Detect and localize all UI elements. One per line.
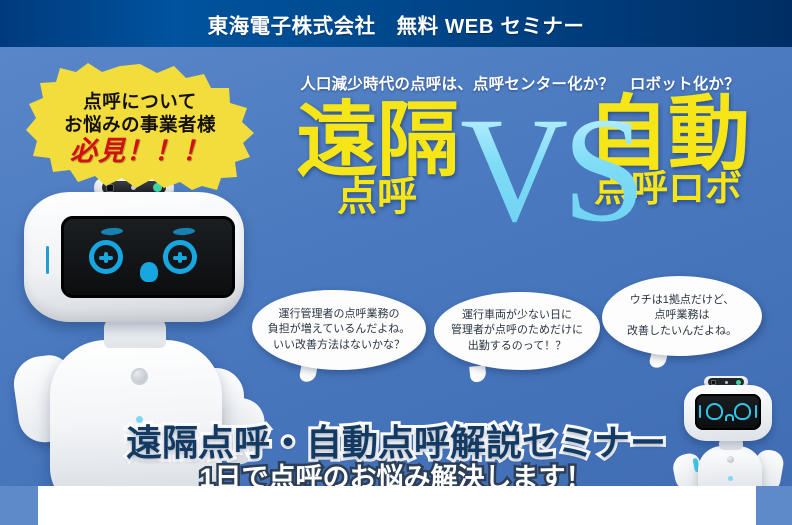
bubble-1-line-3: いい改善方法はないかな？	[273, 338, 405, 354]
badge-line-1: 点呼について	[83, 91, 196, 113]
bottom-white-panel	[38, 486, 756, 525]
banner-title: 遠隔点呼・自動点呼解説セミナー	[0, 424, 792, 462]
badge-text-block: 点呼について お悩みの事業者様 必見！！！	[26, 62, 254, 190]
bubble-3-line-3: 改善したいんだよね。	[627, 324, 737, 340]
robot-small-eye-left	[706, 403, 723, 420]
robot-large-side-light-left	[46, 246, 49, 274]
robot-small-side-light-right	[755, 405, 757, 418]
headline-left-group: 遠隔 点呼	[262, 102, 492, 217]
robot-large-face-screen	[61, 216, 235, 298]
status-led-icon	[736, 380, 741, 385]
robot-small-mouth	[725, 414, 734, 421]
robot-large-mouth	[140, 262, 158, 282]
speech-bubble-2: 運行車両が少ない日に 管理者が点呼のためだけに 出勤するのって！？	[434, 292, 600, 370]
poster-stage: 東海電子株式会社 無料 WEB セミナー 点呼について お悩みの事業者様 必見！…	[0, 0, 792, 525]
bubble-tail-2	[469, 365, 487, 383]
bubble-2-line-1: 運行車両が少ない日に	[462, 308, 572, 324]
robot-large-brow-right	[173, 227, 195, 236]
badge-line-2: お悩みの事業者様	[64, 114, 216, 136]
bubble-3-line-2: 点呼業務は	[655, 308, 710, 324]
robot-large-neck	[104, 318, 166, 348]
bottom-right-edge	[756, 486, 792, 525]
speech-bubble-3: ウチは1拠点だけど、 点呼業務は 改善したいんだよね。	[602, 276, 762, 356]
header-title: 東海電子株式会社 無料 WEB セミナー	[208, 9, 585, 39]
robot-large-eye-right	[163, 240, 197, 274]
hero-headline: 遠隔 点呼 VS 自動 点呼ロボ	[248, 96, 792, 276]
bubble-1-line-2: 負担が増えているんだよね。	[268, 322, 410, 338]
badge-line-3: 必見！！！	[70, 138, 210, 165]
robot-large-body-button	[131, 368, 148, 385]
header-bar: 東海電子株式会社 無料 WEB セミナー	[0, 0, 792, 47]
speech-bubble-1: 運行管理者の点呼業務の 負担が増えているんだよね。 いい改善方法はないかな？	[252, 290, 426, 370]
attention-badge: 点呼について お悩みの事業者様 必見！！！	[26, 62, 254, 190]
robot-large-eye-left	[89, 240, 123, 274]
bubble-2-line-2: 管理者が点呼のためだけに	[451, 323, 583, 339]
robot-small-eye-right	[734, 403, 751, 420]
camera-lens-icon	[711, 380, 716, 385]
bubble-3-line-1: ウチは1拠点だけど、	[630, 293, 735, 309]
bottom-left-edge	[0, 486, 38, 525]
robot-small-side-light-left	[699, 405, 701, 418]
bubble-1-line-1: 運行管理者の点呼業務の	[279, 307, 400, 323]
hero-subheading: 人口減少時代の点呼は、点呼センター化か？ ロボット化か？	[258, 72, 782, 94]
robot-large-brow-left	[101, 227, 123, 236]
sensor-dot-icon	[725, 381, 728, 384]
headline-versus: VS	[460, 110, 640, 230]
bottom-banner: 遠隔点呼・自動点呼解説セミナー 1日で点呼のお悩み解決します！	[0, 424, 792, 493]
bubble-2-line-3: 出勤するのって！？	[468, 339, 566, 355]
robot-large-head	[24, 192, 244, 322]
headline-left-main: 遠隔	[262, 102, 492, 181]
